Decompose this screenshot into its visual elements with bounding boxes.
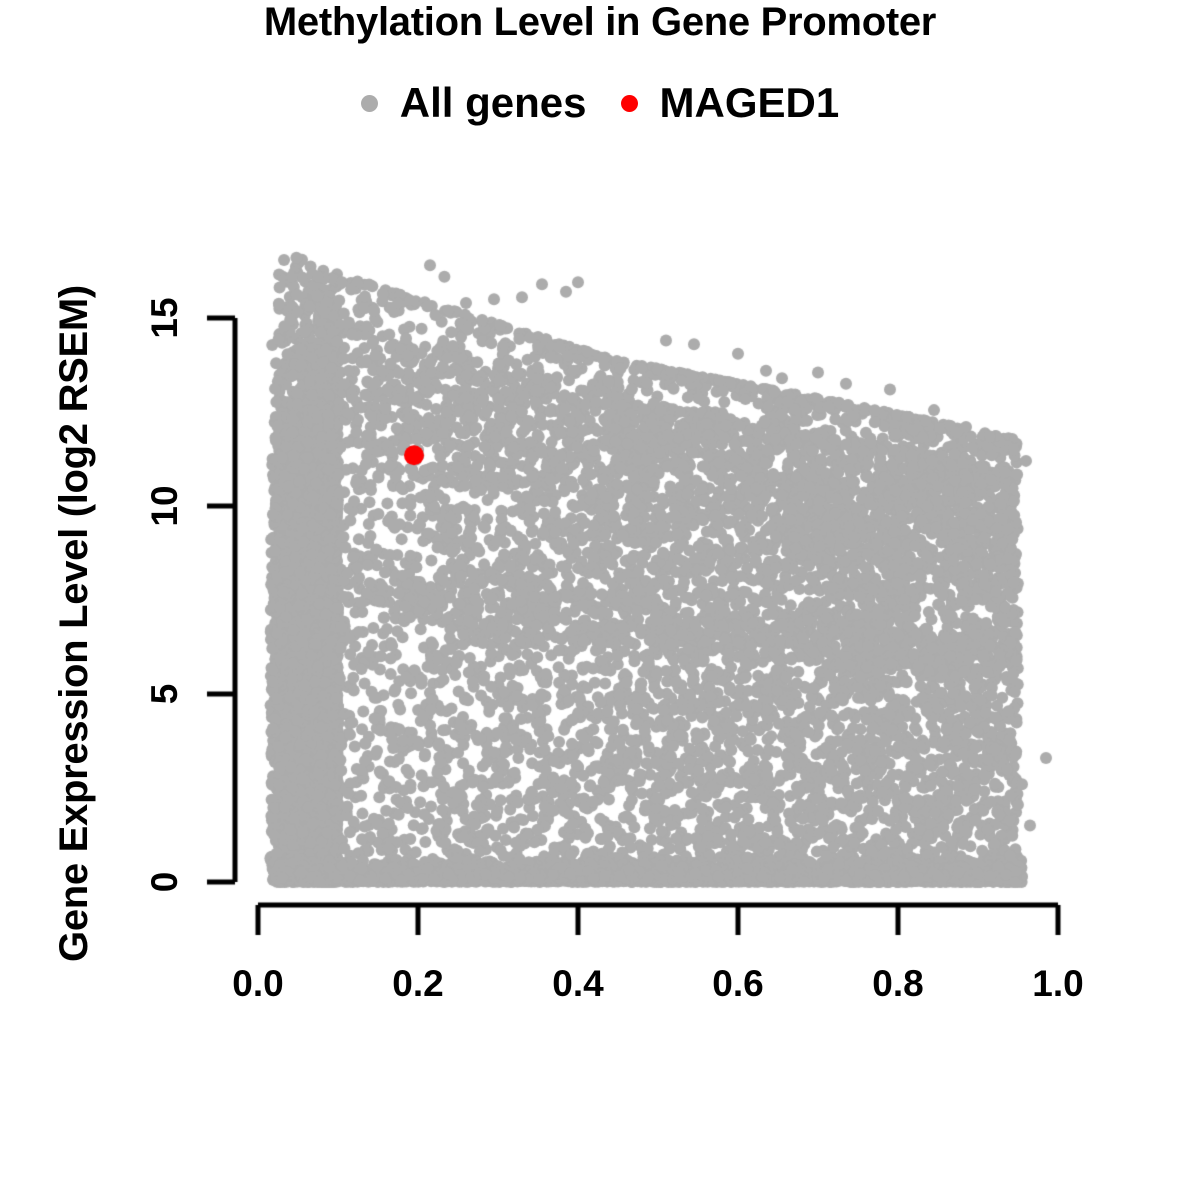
x-tick-label-0.8: 0.8 bbox=[872, 963, 923, 1005]
y-tick-label-5: 5 bbox=[144, 659, 186, 729]
x-axis-title: Methylation Level in Gene Promoter bbox=[0, 0, 1200, 45]
legend-marker-all-genes-icon bbox=[361, 95, 378, 112]
y-tick-label-15: 15 bbox=[144, 283, 186, 353]
x-tick-label-0.4: 0.4 bbox=[552, 963, 603, 1005]
legend-marker-maged1-icon bbox=[621, 95, 638, 112]
x-tick-label-1.0: 1.0 bbox=[1032, 963, 1083, 1005]
legend: All genes MAGED1 bbox=[0, 82, 1200, 124]
scatter-plot-figure: All genes MAGED1 Methylation Level in Ge… bbox=[0, 0, 1200, 1200]
x-tick-label-0.0: 0.0 bbox=[232, 963, 283, 1005]
x-tick-label-0.6: 0.6 bbox=[712, 963, 763, 1005]
legend-label-maged1: MAGED1 bbox=[660, 82, 840, 124]
x-tick-label-0.2: 0.2 bbox=[392, 963, 443, 1005]
y-tick-label-0: 0 bbox=[144, 847, 186, 917]
y-tick-label-10: 10 bbox=[144, 471, 186, 541]
legend-entry-maged1[interactable]: MAGED1 bbox=[621, 82, 840, 124]
scatter-plot-canvas bbox=[0, 0, 1200, 1200]
legend-entry-all-genes[interactable]: All genes bbox=[361, 82, 587, 124]
y-axis-title: Gene Expression Level (log2 RSEM) bbox=[52, 285, 97, 962]
legend-label-all-genes: All genes bbox=[400, 82, 587, 124]
